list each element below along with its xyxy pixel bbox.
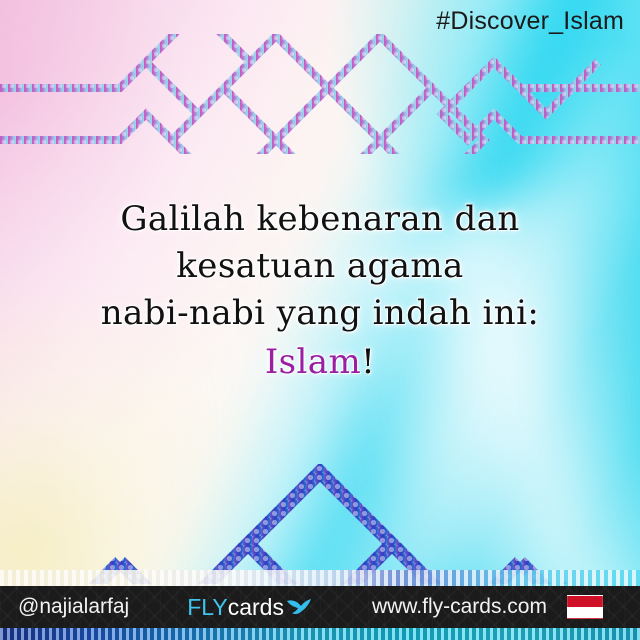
decorative-strip <box>0 570 640 586</box>
hashtag-label: #Discover_Islam <box>436 7 624 36</box>
bird-icon <box>286 598 312 616</box>
islamic-diamond-ornament-bottom <box>0 464 640 584</box>
quote-line-3: nabi-nabi yang indah ini: <box>26 290 614 337</box>
quote-line-1: Galilah kebenaran dan <box>26 196 614 243</box>
quote-line-2: kesatuan agama <box>26 243 614 290</box>
brand-cards-text: cards <box>228 594 284 621</box>
footer-bar: @najialarfaj FLYcards www.fly-cards.com <box>0 586 640 628</box>
islamic-interlace-ornament-top <box>0 34 640 154</box>
discover-islam-card: #Discover_Islam Galilah kebenaran dan ke… <box>0 0 640 640</box>
quote-highlight-line: Islam! <box>26 339 614 386</box>
bottom-pattern-edge <box>0 628 640 640</box>
quote-block: Galilah kebenaran dan kesatuan agama nab… <box>0 196 640 386</box>
indonesia-flag <box>567 595 603 619</box>
quote-highlight-word: Islam <box>265 342 361 382</box>
quote-highlight-punctuation: ! <box>361 342 375 382</box>
brand-fly-text: FLY <box>187 594 227 621</box>
author-handle[interactable]: @najialarfaj <box>18 595 129 619</box>
flycards-logo[interactable]: FLYcards <box>187 594 312 621</box>
website-url[interactable]: www.fly-cards.com <box>372 595 547 619</box>
